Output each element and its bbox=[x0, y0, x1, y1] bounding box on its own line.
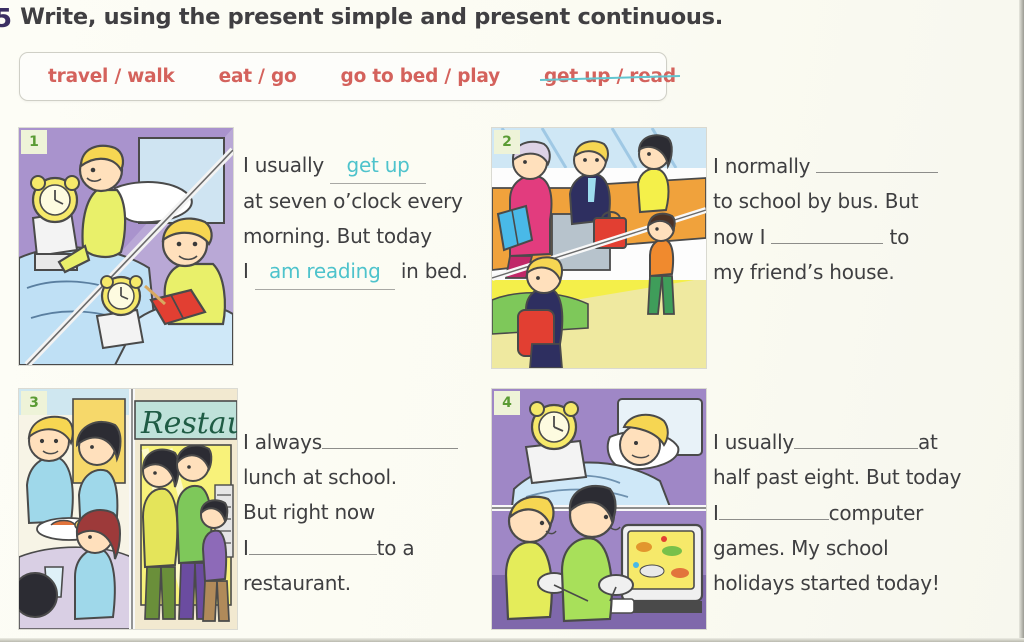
exercise-heading: 5 Write, using the present simple and pr… bbox=[0, 4, 723, 34]
item-badge-1: 1 bbox=[21, 130, 47, 154]
worksheet-page: 5 Write, using the present simple and pr… bbox=[0, 0, 1024, 642]
item-3-line-0-before: I always bbox=[243, 430, 322, 454]
item-2-line-2-after: to bbox=[883, 225, 909, 249]
picture-2: 2 bbox=[491, 127, 707, 369]
item-2-line-3: my friend’s house. bbox=[713, 255, 938, 290]
item-badge-3: 3 bbox=[21, 391, 47, 415]
item-1-line-0-before: I usually bbox=[243, 153, 330, 177]
item-1-line-3-after: in bed. bbox=[395, 259, 468, 283]
exercise-number: 5 bbox=[0, 4, 11, 34]
page-right-edge bbox=[1019, 0, 1024, 642]
item-4-line-2: Icomputer bbox=[713, 495, 961, 531]
restaurant-sign-text: Restau bbox=[140, 406, 237, 441]
item-2-blank-1[interactable] bbox=[771, 219, 883, 244]
item-2-text: I normally to school by bus. But now I t… bbox=[713, 148, 938, 290]
item-2-line-1: to school by bus. But bbox=[713, 184, 938, 219]
item-2-line-0-before: I normally bbox=[713, 154, 816, 178]
item-3-line-1: lunch at school. bbox=[243, 460, 458, 495]
item-4-line-0-before: I usually bbox=[713, 430, 794, 454]
word-bank-item-0[interactable]: travel / walk bbox=[48, 66, 175, 87]
item-2-line-2: now I to bbox=[713, 219, 938, 255]
word-bank-box: travel / walk eat / go go to bed / play … bbox=[19, 52, 667, 101]
item-4-line-1: half past eight. But today bbox=[713, 460, 961, 495]
item-3-blank-1[interactable] bbox=[249, 530, 377, 555]
item-3-blank-0[interactable] bbox=[322, 424, 458, 449]
item-2-line-2-before: now I bbox=[713, 225, 771, 249]
item-4-line-0-after: at bbox=[918, 430, 938, 454]
word-bank-item-1[interactable]: eat / go bbox=[219, 66, 297, 87]
item-3-line-0: I always bbox=[243, 424, 458, 460]
item-4-line-0: I usuallyat bbox=[713, 424, 961, 460]
item-4-blank-0[interactable] bbox=[794, 424, 918, 449]
item-4-line-2-after: computer bbox=[829, 501, 923, 525]
picture-4: 4 bbox=[491, 388, 707, 630]
word-bank-item-3[interactable]: get up / read bbox=[544, 66, 676, 87]
item-1-answer-0[interactable]: get up bbox=[330, 148, 426, 184]
item-badge-2: 2 bbox=[494, 130, 520, 154]
page-bottom-edge bbox=[0, 638, 1024, 642]
item-2-blank-0[interactable] bbox=[816, 148, 938, 173]
item-4-text: I usuallyat half past eight. But today I… bbox=[713, 424, 961, 601]
item-3-line-3-after: to a bbox=[377, 536, 415, 560]
item-1-line-2: morning. But today bbox=[243, 219, 468, 254]
item-2-line-0: I normally bbox=[713, 148, 938, 184]
item-4-blank-1[interactable] bbox=[719, 495, 829, 520]
picture-3: Restau bbox=[18, 388, 238, 630]
item-3-line-4: restaurant. bbox=[243, 566, 458, 601]
item-1-answer-1[interactable]: am reading bbox=[255, 254, 395, 290]
item-1-line-0: I usually get up bbox=[243, 148, 468, 184]
item-3-line-2: But right now bbox=[243, 495, 458, 530]
item-1-line-1: at seven o’clock every bbox=[243, 184, 468, 219]
item-4-line-3: games. My school bbox=[713, 531, 961, 566]
item-1-text: I usually get up at seven o’clock every … bbox=[243, 148, 468, 290]
item-4-line-4: holidays started today! bbox=[713, 566, 961, 601]
word-bank-items: travel / walk eat / go go to bed / play … bbox=[20, 66, 676, 87]
picture-1: 1 bbox=[18, 127, 234, 366]
item-1-line-3: I am reading in bed. bbox=[243, 254, 468, 290]
word-bank-item-2[interactable]: go to bed / play bbox=[341, 66, 500, 87]
item-1-line-3-before: I bbox=[243, 259, 255, 283]
page-title: Write, using the present simple and pres… bbox=[20, 4, 723, 30]
item-badge-4: 4 bbox=[494, 391, 520, 415]
item-3-line-3: Ito a bbox=[243, 530, 458, 566]
item-3-text: I always lunch at school. But right now … bbox=[243, 424, 458, 601]
